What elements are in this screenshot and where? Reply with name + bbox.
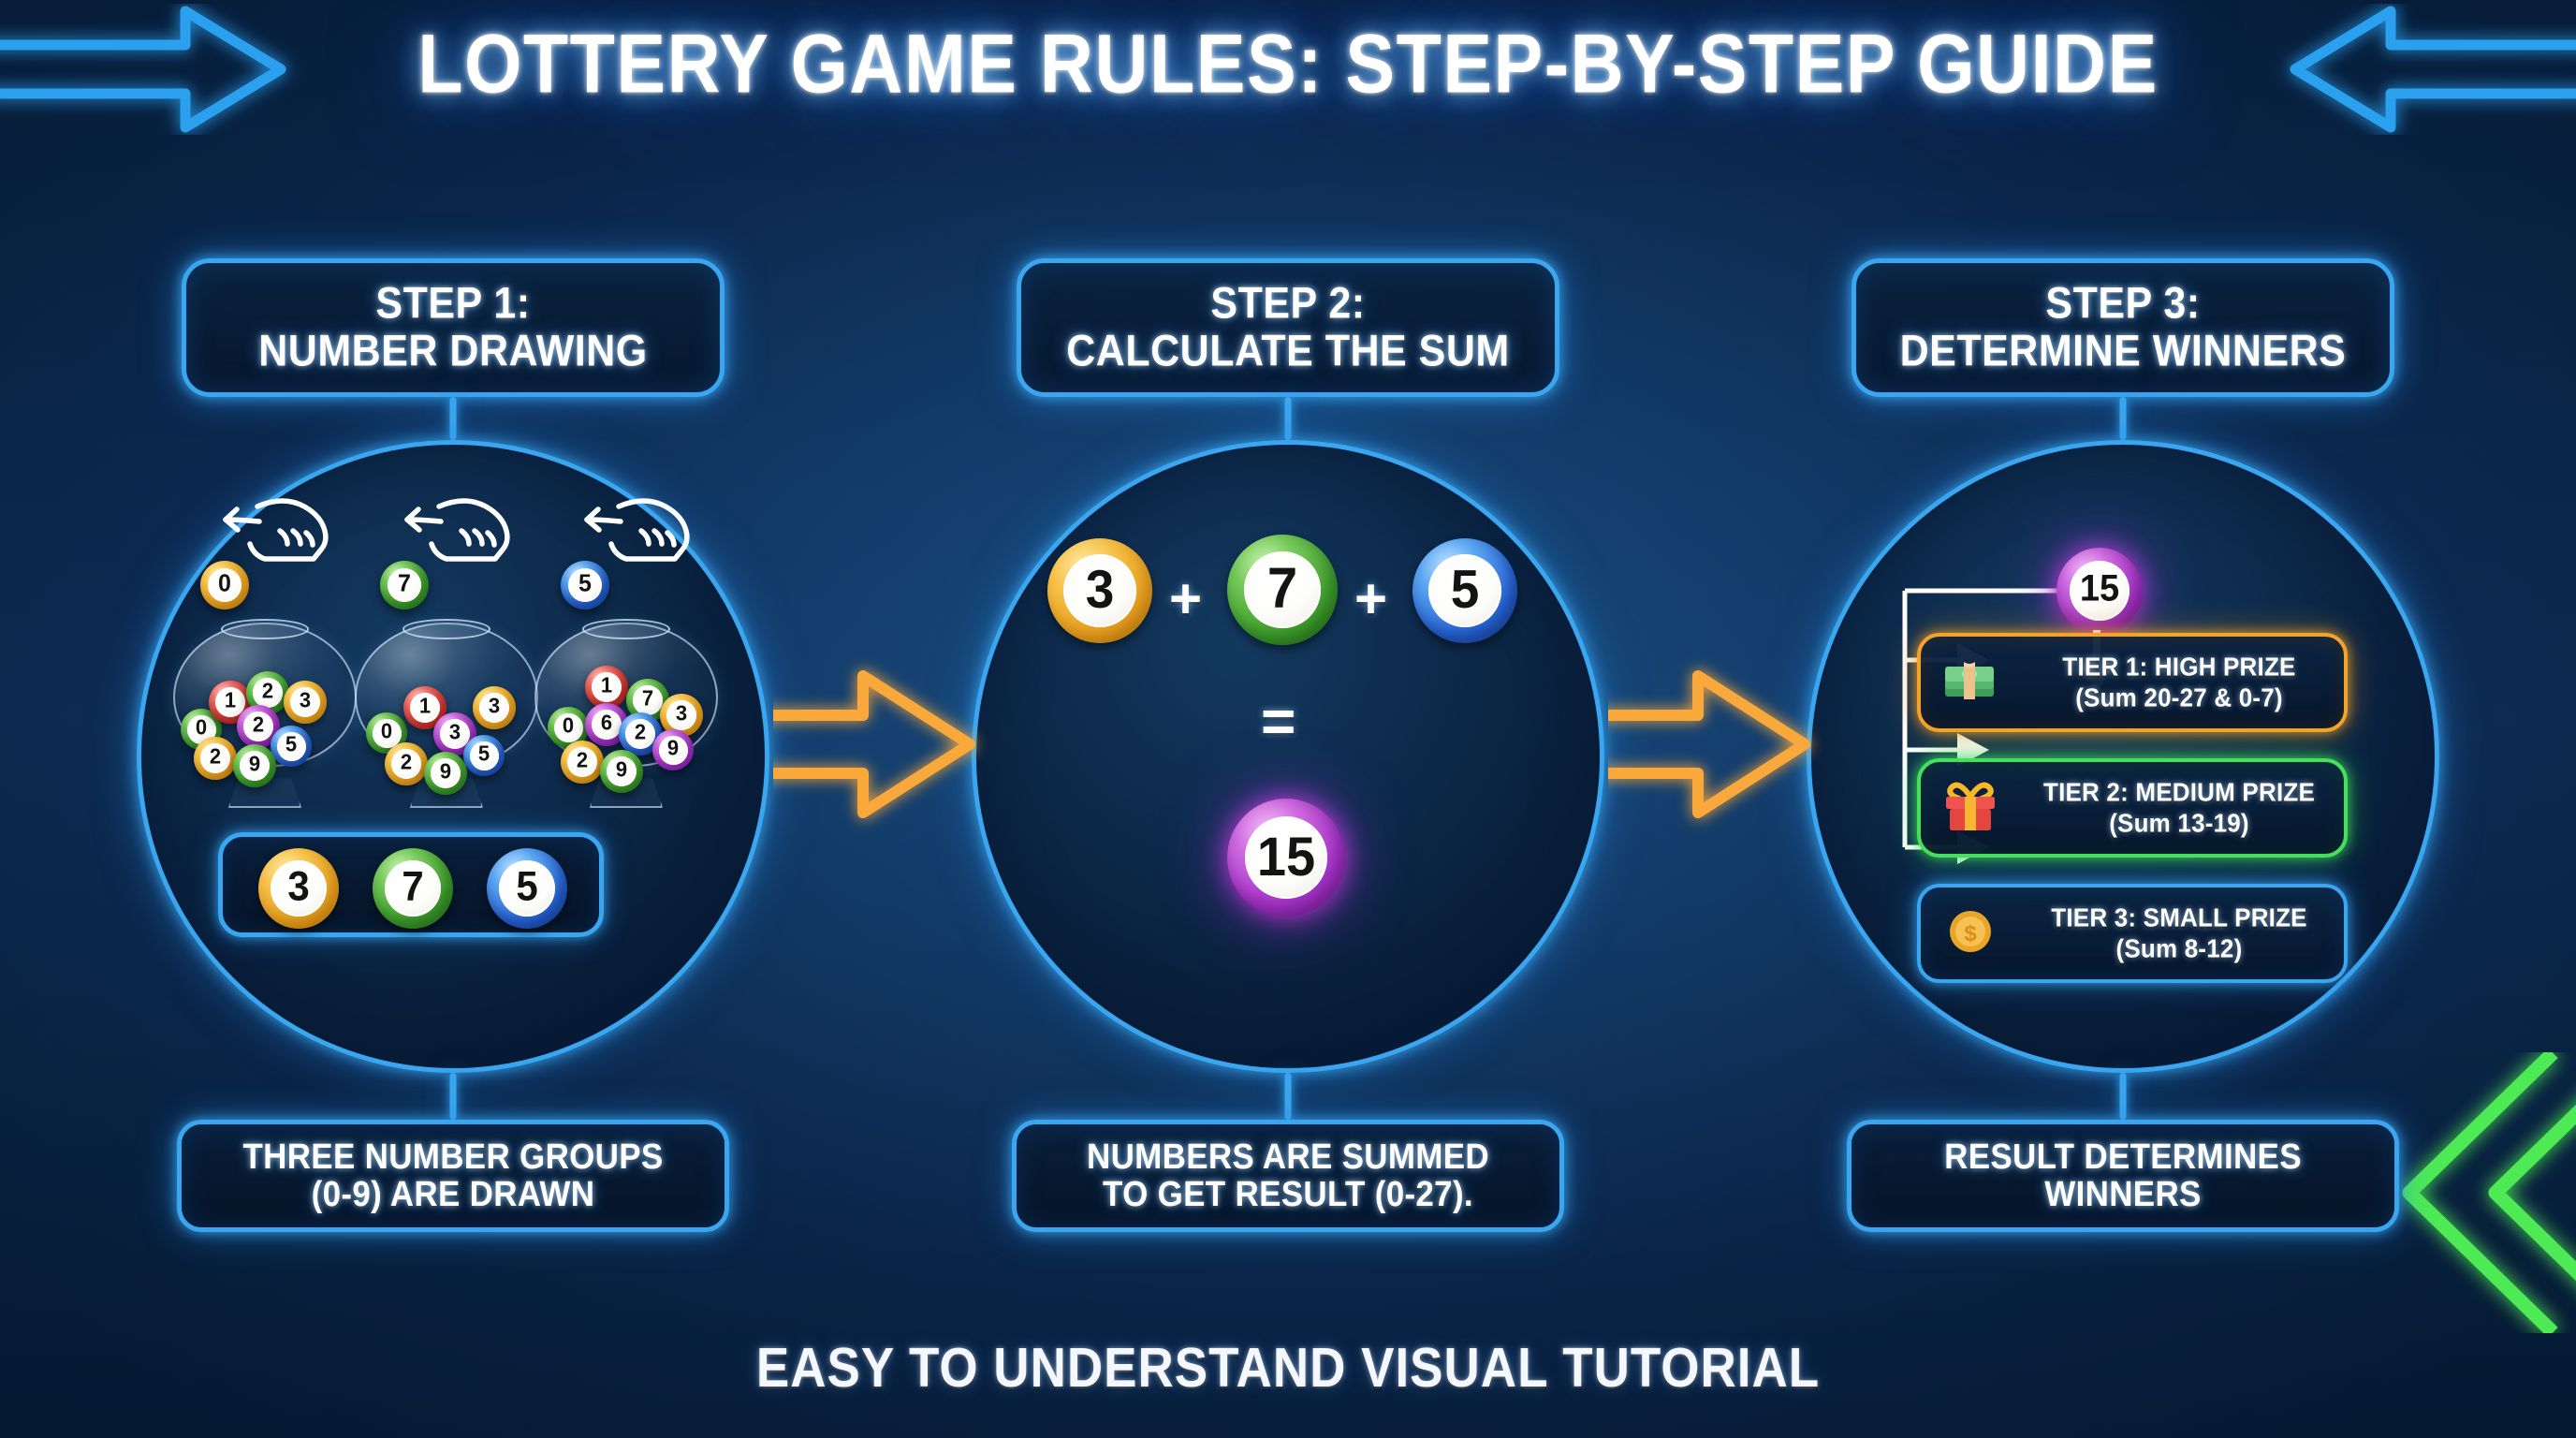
tier-2-range: (Sum 13-19) bbox=[2109, 808, 2249, 839]
page-tagline-text: EASY TO UNDERSTAND VISUAL TUTORIAL bbox=[756, 1336, 1820, 1400]
page-tagline: EASY TO UNDERSTAND VISUAL TUTORIAL bbox=[0, 1340, 2576, 1397]
lottery-machine-1: 0 1 2 3 2 5 2 9 bbox=[173, 623, 357, 808]
money-stack-icon bbox=[1941, 658, 1999, 708]
equation-operand-2-number: 7 bbox=[1267, 555, 1297, 621]
machine-ball: 3 bbox=[284, 681, 327, 724]
step-1-caption-line2: (0-9) ARE DRAWN bbox=[312, 1174, 595, 1214]
step-2-caption: NUMBERS ARE SUMMED TO GET RESULT (0-27). bbox=[1012, 1120, 1564, 1232]
step-2-caption-line2: TO GET RESULT (0-27). bbox=[1103, 1174, 1473, 1214]
result-ball-1-number: 3 bbox=[287, 863, 309, 910]
step-2-header: STEP 2: CALCULATE THE SUM bbox=[1017, 258, 1559, 397]
drawn-ball-1-number: 0 bbox=[218, 569, 231, 597]
equals-sign-text: = bbox=[1261, 687, 1295, 755]
equation-operand-1-number: 3 bbox=[1086, 557, 1115, 620]
machine-ball: 2 bbox=[194, 737, 237, 780]
machine-ball-number: 5 bbox=[478, 741, 490, 766]
machine-ball-number: 2 bbox=[210, 743, 221, 769]
step-3-caption-line1: RESULT DETERMINES bbox=[1944, 1137, 2302, 1177]
machine-ball-number: 3 bbox=[489, 693, 500, 718]
step-3-caption: RESULT DETERMINES WINNERS bbox=[1847, 1120, 2399, 1232]
tier-2-title: TIER 2: MEDIUM PRIZE bbox=[2043, 777, 2315, 808]
equation-result-number: 15 bbox=[1257, 824, 1315, 888]
step-1-result-strip: 3 7 5 bbox=[218, 832, 604, 937]
step-3-connector-bottom bbox=[2120, 1073, 2127, 1120]
result-ball-3: 5 bbox=[487, 848, 567, 929]
machine-ball-number: 0 bbox=[381, 718, 392, 743]
machine-ball: 9 bbox=[233, 744, 276, 787]
step-3-connector-top bbox=[2120, 397, 2127, 440]
machine-ball-number: 9 bbox=[667, 735, 679, 760]
plus-sign-2: + bbox=[1354, 566, 1387, 631]
machine-ball: 9 bbox=[600, 750, 643, 793]
equals-sign: = bbox=[1261, 686, 1295, 756]
machine-ball-number: 1 bbox=[419, 693, 431, 718]
step-2-header-line1: STEP 2: bbox=[1210, 279, 1365, 330]
equation-operand-2: 7 bbox=[1227, 535, 1338, 645]
step-2-caption-line1: NUMBERS ARE SUMMED bbox=[1087, 1137, 1489, 1177]
pointing-hand-icon bbox=[561, 493, 701, 568]
step-3-input-ball-number: 15 bbox=[2080, 567, 2119, 609]
machine-neck bbox=[582, 619, 670, 639]
machine-ball-number: 3 bbox=[300, 687, 311, 712]
tier-3-row[interactable]: $ TIER 3: SMALL PRIZE (Sum 8-12) bbox=[1917, 884, 2348, 983]
gift-box-icon bbox=[1941, 780, 1999, 837]
gold-coin-icon: $ bbox=[1941, 907, 1999, 961]
machine-ball-number: 3 bbox=[676, 700, 687, 726]
drawn-ball-3: 5 bbox=[561, 561, 609, 609]
tier-1-title: TIER 1: HIGH PRIZE bbox=[2062, 652, 2295, 682]
machine-ball-number: 9 bbox=[440, 758, 451, 784]
machine-ball-number: 2 bbox=[577, 747, 588, 772]
machine-ball-number: 1 bbox=[601, 672, 612, 697]
drawn-ball-2-number: 7 bbox=[398, 569, 411, 597]
machine-ball: 2 bbox=[385, 742, 428, 785]
machine-ball: 9 bbox=[652, 729, 694, 770]
result-ball-3-number: 5 bbox=[516, 863, 537, 910]
step-connector-arrow-2-icon bbox=[1608, 655, 1823, 838]
equation-result-ball: 15 bbox=[1227, 799, 1345, 917]
machine-ball-number: 9 bbox=[249, 751, 260, 776]
machine-ball-number: 9 bbox=[616, 756, 627, 782]
machine-ball-number: 0 bbox=[563, 712, 574, 738]
result-ball-1: 3 bbox=[258, 848, 339, 929]
step-2-connector-top bbox=[1285, 397, 1292, 440]
tier-2-row[interactable]: TIER 2: MEDIUM PRIZE (Sum 13-19) bbox=[1917, 758, 2348, 858]
drawn-ball-1: 0 bbox=[200, 561, 249, 609]
step-1-column: STEP 1: NUMBER DRAWING bbox=[41, 0, 865, 1438]
step-3-input-ball: 15 bbox=[2056, 548, 2143, 634]
step-2-connector-bottom bbox=[1285, 1073, 1292, 1120]
plus-sign-1: + bbox=[1169, 566, 1202, 631]
tier-3-range: (Sum 8-12) bbox=[2116, 933, 2243, 964]
equation-operand-1: 3 bbox=[1047, 538, 1152, 643]
pointing-hand-icon bbox=[199, 493, 340, 568]
lottery-machine-3: 1 7 3 0 6 2 9 2 9 bbox=[534, 623, 718, 808]
machine-ball: 9 bbox=[424, 752, 467, 795]
step-1-circle: 0 7 5 0 1 bbox=[137, 440, 769, 1073]
machine-ball: 3 bbox=[473, 686, 516, 729]
step-1-connector-top bbox=[450, 397, 457, 440]
step-3-header-line1: STEP 3: bbox=[2045, 279, 2200, 330]
plus-sign-1-text: + bbox=[1169, 567, 1202, 630]
machine-ball: 2 bbox=[561, 741, 604, 784]
machine-ball-number: 2 bbox=[635, 719, 646, 744]
tier-3-title: TIER 3: SMALL PRIZE bbox=[2051, 902, 2306, 933]
result-ball-2: 7 bbox=[373, 848, 453, 929]
step-3-header: STEP 3: DETERMINE WINNERS bbox=[1851, 258, 2394, 397]
drawn-ball-3-number: 5 bbox=[578, 569, 592, 597]
equation-operand-3-number: 5 bbox=[1451, 557, 1480, 620]
tier-1-range: (Sum 20-27 & 0-7) bbox=[2075, 682, 2283, 713]
step-1-caption: THREE NUMBER GROUPS (0-9) ARE DRAWN bbox=[177, 1120, 729, 1232]
machine-ball: 5 bbox=[271, 726, 312, 767]
drawn-ball-2: 7 bbox=[380, 561, 429, 609]
machine-ball-number: 5 bbox=[285, 731, 297, 756]
equation-operand-3: 5 bbox=[1412, 538, 1517, 643]
step-2-circle: 3 + 7 + 5 = 15 bbox=[972, 440, 1604, 1073]
svg-text:$: $ bbox=[1964, 921, 1977, 946]
machine-neck bbox=[402, 619, 490, 639]
step-1-caption-line1: THREE NUMBER GROUPS bbox=[242, 1137, 663, 1177]
machine-ball-number: 7 bbox=[642, 685, 653, 711]
step-1-header-line1: STEP 1: bbox=[375, 279, 530, 330]
result-ball-2-number: 7 bbox=[402, 863, 423, 910]
machine-neck bbox=[221, 619, 309, 639]
lottery-machine-2: 0 1 3 3 5 2 9 bbox=[355, 623, 538, 808]
pointing-hand-icon bbox=[381, 493, 521, 568]
infographic-canvas: LOTTERY GAME RULES: STEP-BY-STEP GUIDE S… bbox=[0, 0, 2576, 1438]
tier-1-row[interactable]: TIER 1: HIGH PRIZE (Sum 20-27 & 0-7) bbox=[1917, 633, 2348, 732]
plus-sign-2-text: + bbox=[1354, 567, 1387, 630]
step-1-connector-bottom bbox=[450, 1073, 457, 1120]
machine-ball-number: 6 bbox=[601, 710, 612, 735]
step-1-header: STEP 1: NUMBER DRAWING bbox=[182, 258, 724, 397]
step-3-caption-line2: WINNERS bbox=[2044, 1174, 2201, 1214]
step-connector-arrow-1-icon bbox=[773, 655, 988, 838]
step-3-header-line2: DETERMINE WINNERS bbox=[1900, 327, 2347, 377]
step-2-header-line2: CALCULATE THE SUM bbox=[1066, 327, 1510, 377]
step-2-column: STEP 2: CALCULATE THE SUM 3 + 7 + 5 = bbox=[876, 0, 1700, 1438]
machine-ball-number: 2 bbox=[262, 678, 273, 703]
machine-ball-number: 0 bbox=[196, 714, 207, 740]
step-1-header-line2: NUMBER DRAWING bbox=[258, 327, 647, 377]
step-3-column: STEP 3: DETERMINE WINNERS bbox=[1711, 0, 2535, 1438]
machine-ball-number: 2 bbox=[253, 712, 264, 737]
machine-ball-number: 3 bbox=[449, 719, 461, 744]
machine-ball: 5 bbox=[463, 735, 505, 776]
machine-ball-number: 2 bbox=[401, 749, 412, 774]
machine-ball-number: 1 bbox=[225, 687, 236, 712]
